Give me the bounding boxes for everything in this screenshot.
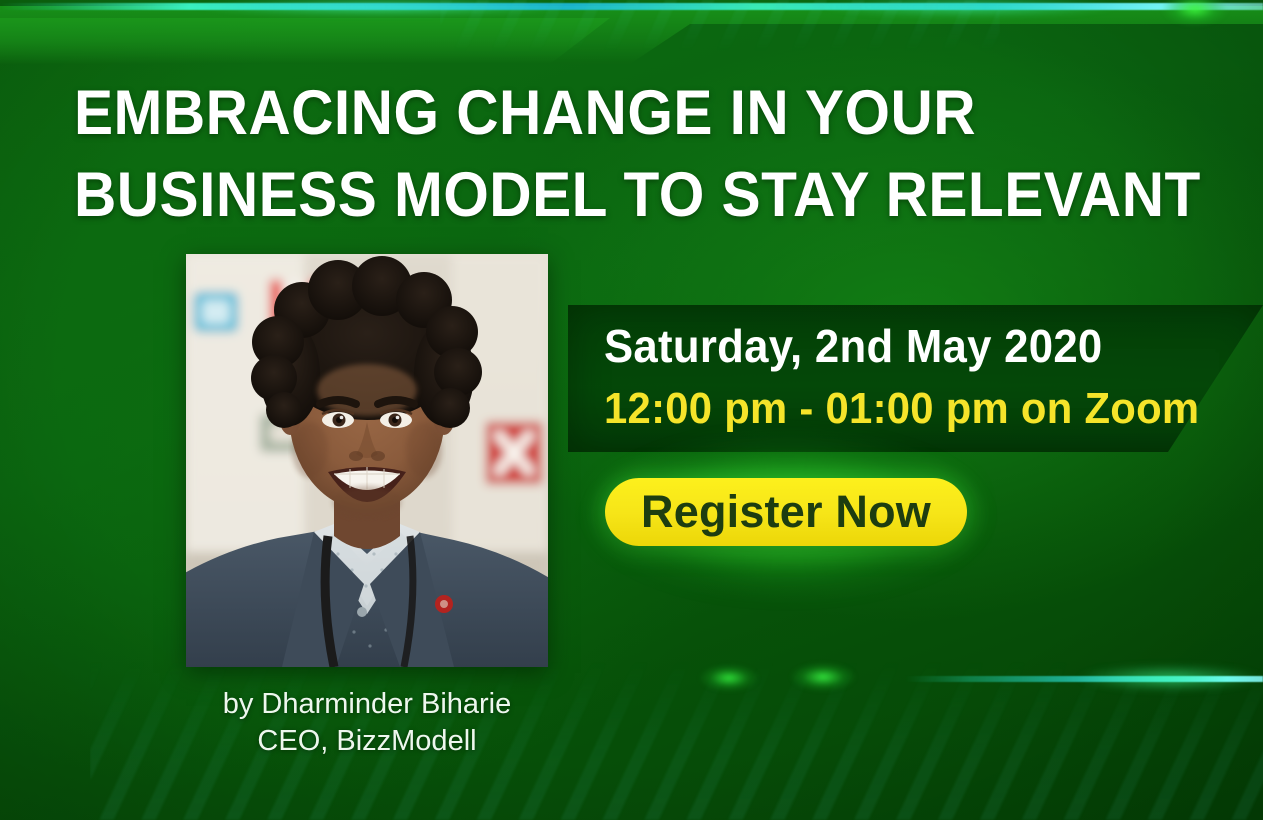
- top-angled-band: [0, 6, 1263, 64]
- top-streak-glow-left: [120, 0, 640, 20]
- page-title: EMBRACING CHANGE IN YOUR BUSINESS MODEL …: [74, 72, 1125, 236]
- event-time: 12:00 pm - 01:00 pm on Zoom: [604, 384, 1199, 434]
- glow-dot-bottom-one-icon: [690, 660, 768, 696]
- headline-line-1: EMBRACING CHANGE IN YOUR: [74, 72, 1125, 154]
- top-streak-glow-right: [760, 0, 1180, 22]
- webinar-promo-banner: EMBRACING CHANGE IN YOUR BUSINESS MODEL …: [0, 0, 1263, 820]
- glow-dot-top-right-icon: [1150, 0, 1240, 32]
- top-cyan-streak-icon: [0, 3, 1263, 10]
- glow-dot-bottom-two-icon: [780, 658, 866, 696]
- speaker-name: by Dharminder Biharie: [186, 686, 548, 723]
- bottom-cyan-streak-icon: [905, 676, 1263, 682]
- speaker-photo: [186, 254, 548, 667]
- headline-line-2: BUSINESS MODEL TO STAY RELEVANT: [74, 154, 1125, 236]
- register-now-button[interactable]: Register Now: [605, 478, 967, 546]
- bottom-streak-glow: [1040, 660, 1263, 696]
- speaker-title: CEO, BizzModell: [186, 723, 548, 760]
- event-date: Saturday, 2nd May 2020: [604, 320, 1103, 372]
- top-diagonal-stripes: [440, 0, 1000, 52]
- top-angled-band-secondary: [0, 18, 670, 64]
- speaker-credit: by Dharminder Biharie CEO, BizzModell: [186, 686, 548, 760]
- speaker-headshot-image: [186, 254, 548, 667]
